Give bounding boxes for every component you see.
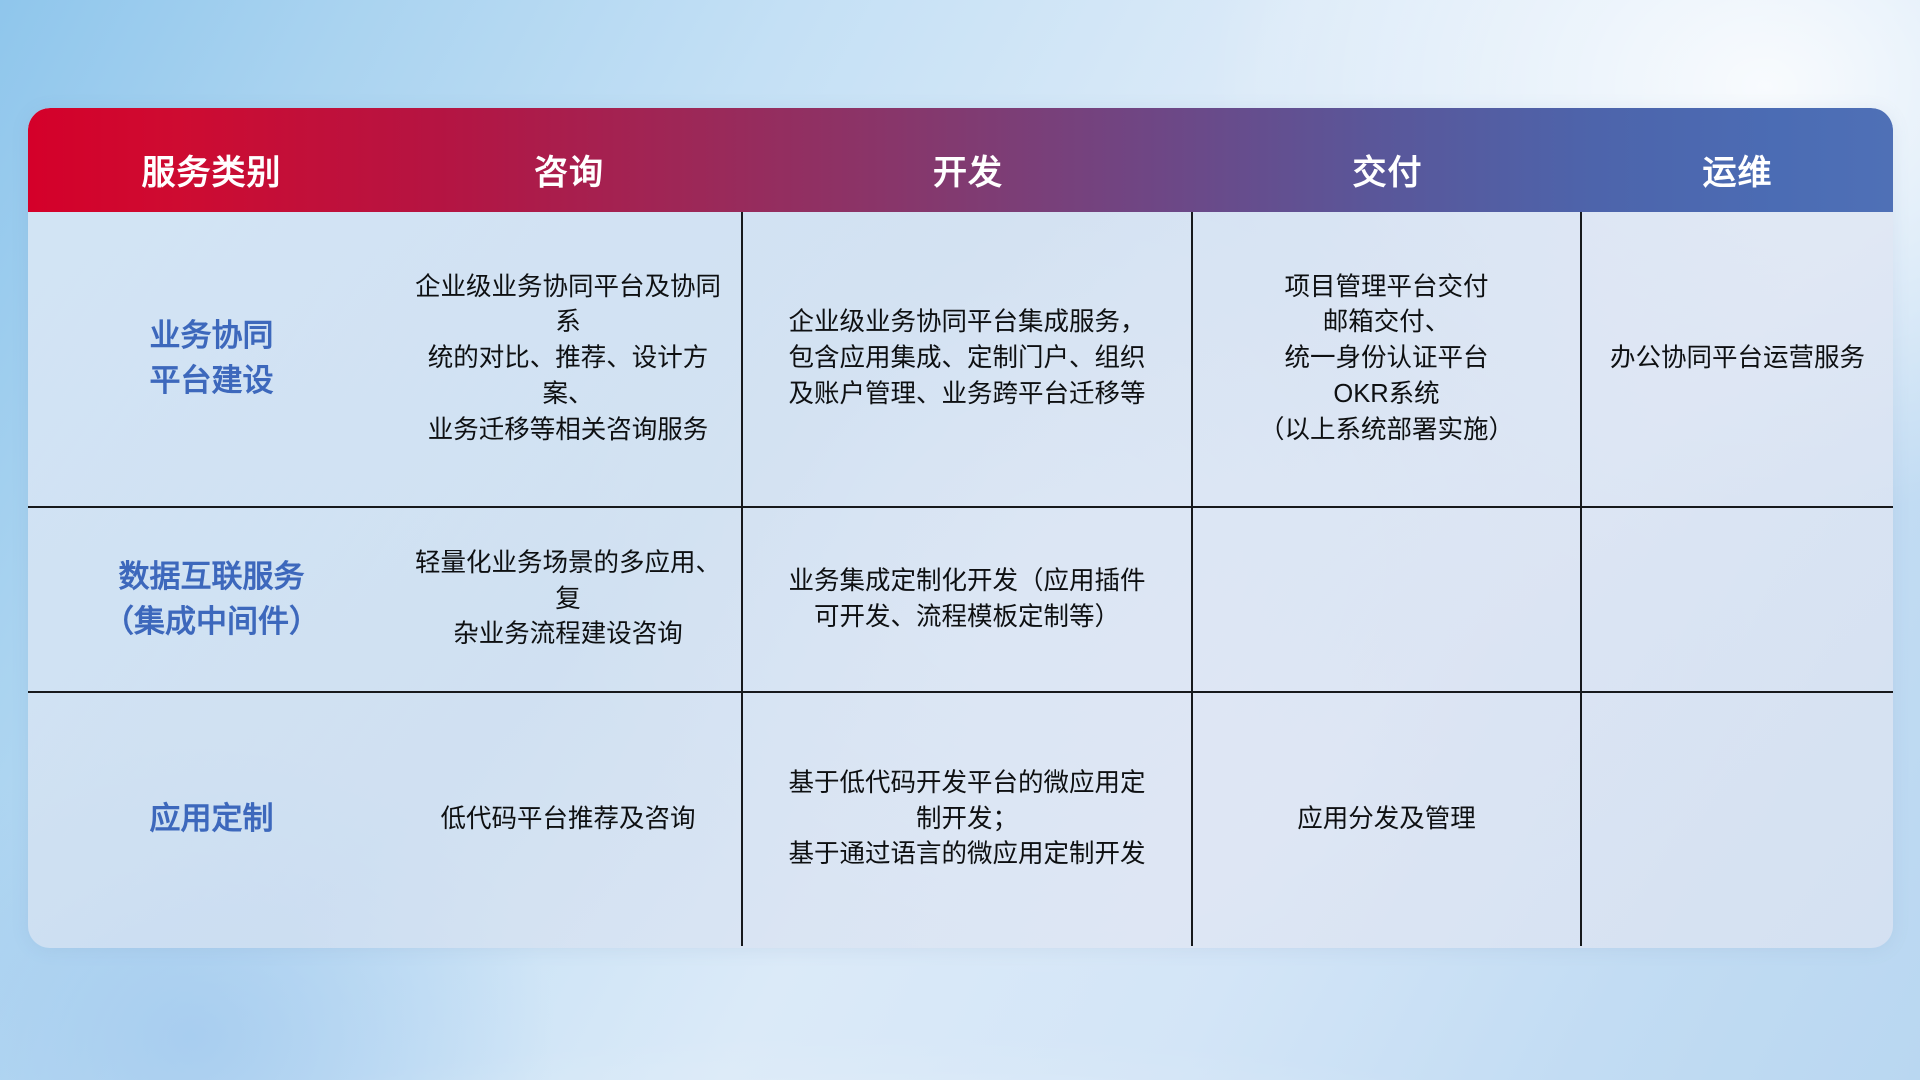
- row-consulting-text: 轻量化业务场景的多应用、复 杂业务流程建设咨询: [409, 546, 727, 653]
- row-operations-cell: [1582, 693, 1893, 946]
- table-header-row: 服务类别 咨询 开发 交付 运维: [28, 108, 1893, 212]
- header-cell-category: 服务类别: [28, 156, 395, 212]
- row-operations-cell: 办公协同平台运营服务: [1582, 212, 1893, 506]
- row-category-cell: 数据互联服务 （集成中间件）: [28, 508, 395, 691]
- row-category-label: 应用定制: [150, 797, 274, 842]
- row-consulting-text: 企业级业务协同平台及协同系 统的对比、推荐、设计方案、 业务迁移等相关咨询服务: [409, 270, 727, 448]
- header-cell-consulting: 咨询: [395, 156, 743, 212]
- row-delivery-cell: 项目管理平台交付 邮箱交付、 统一身份认证平台 OKR系统 （以上系统部署实施）: [1193, 212, 1582, 506]
- row-development-cell: 基于低代码开发平台的微应用定 制开发； 基于通过语言的微应用定制开发: [743, 693, 1193, 946]
- row-consulting-cell: 轻量化业务场景的多应用、复 杂业务流程建设咨询: [395, 508, 743, 691]
- row-category-label: 数据互联服务 （集成中间件）: [103, 555, 320, 645]
- service-matrix-table: 服务类别 咨询 开发 交付 运维 业务协同 平台建设 企业级业务协同平台及协同系…: [28, 108, 1893, 948]
- row-development-text: 基于低代码开发平台的微应用定 制开发； 基于通过语言的微应用定制开发: [788, 766, 1145, 873]
- row-delivery-text: 应用分发及管理: [1297, 802, 1476, 838]
- row-operations-cell: [1582, 508, 1893, 691]
- table-row: 业务协同 平台建设 企业级业务协同平台及协同系 统的对比、推荐、设计方案、 业务…: [28, 212, 1893, 508]
- row-category-cell: 业务协同 平台建设: [28, 212, 395, 506]
- row-delivery-cell: [1193, 508, 1582, 691]
- header-cell-operations: 运维: [1582, 156, 1893, 212]
- row-category-cell: 应用定制: [28, 693, 395, 946]
- table-body: 业务协同 平台建设 企业级业务协同平台及协同系 统的对比、推荐、设计方案、 业务…: [28, 212, 1893, 948]
- row-operations-text: 办公协同平台运营服务: [1610, 341, 1865, 377]
- row-development-text: 企业级业务协同平台集成服务， 包含应用集成、定制门户、组织 及账户管理、业务跨平…: [788, 305, 1145, 412]
- table-row: 应用定制 低代码平台推荐及咨询 基于低代码开发平台的微应用定 制开发； 基于通过…: [28, 693, 1893, 946]
- row-consulting-text: 低代码平台推荐及咨询: [440, 802, 695, 838]
- row-development-cell: 业务集成定制化开发（应用插件 可开发、流程模板定制等）: [743, 508, 1193, 691]
- row-consulting-cell: 企业级业务协同平台及协同系 统的对比、推荐、设计方案、 业务迁移等相关咨询服务: [395, 212, 743, 506]
- row-development-text: 业务集成定制化开发（应用插件 可开发、流程模板定制等）: [788, 564, 1145, 635]
- row-category-label: 业务协同 平台建设: [150, 314, 274, 404]
- header-cell-development: 开发: [743, 156, 1193, 212]
- row-delivery-cell: 应用分发及管理: [1193, 693, 1582, 946]
- row-delivery-text: 项目管理平台交付 邮箱交付、 统一身份认证平台 OKR系统 （以上系统部署实施）: [1259, 270, 1514, 448]
- table-row: 数据互联服务 （集成中间件） 轻量化业务场景的多应用、复 杂业务流程建设咨询 业…: [28, 508, 1893, 693]
- row-development-cell: 企业级业务协同平台集成服务， 包含应用集成、定制门户、组织 及账户管理、业务跨平…: [743, 212, 1193, 506]
- row-consulting-cell: 低代码平台推荐及咨询: [395, 693, 743, 946]
- header-cell-delivery: 交付: [1193, 156, 1582, 212]
